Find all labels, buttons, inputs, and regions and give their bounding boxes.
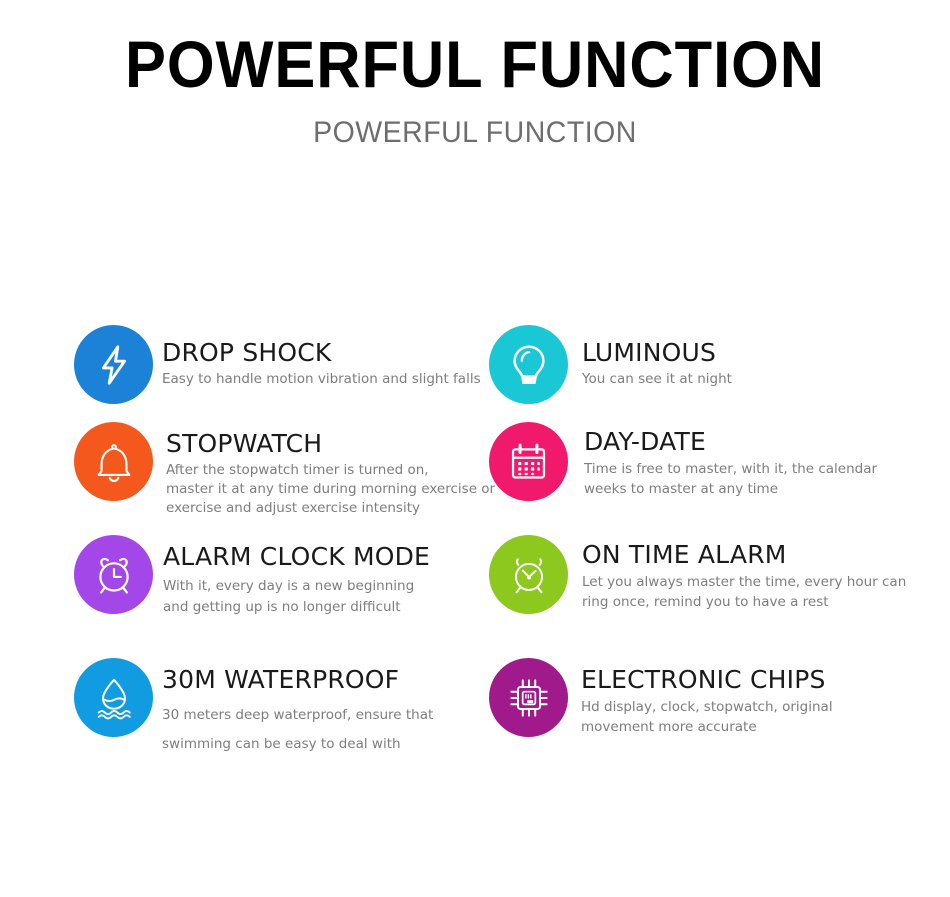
feature-text-day-date: DAY-DATE Time is free to master, with it… (568, 422, 929, 499)
feature-description: Let you always master the time, every ho… (582, 570, 929, 612)
feature-title: DAY-DATE (584, 427, 929, 457)
feature-text-stopwatch: STOPWATCH After the stopwatch timer is t… (153, 422, 495, 518)
feature-text-waterproof: 30M WATERPROOF 30 meters deep waterproof… (153, 658, 494, 759)
feature-title: LUMINOUS (582, 338, 919, 368)
powerful-function-page: POWERFUL FUNCTION POWERFUL FUNCTION DROP… (0, 0, 950, 897)
feature-title: STOPWATCH (166, 429, 495, 459)
feature-grid: DROP SHOCK Easy to handle motion vibrati… (0, 310, 950, 790)
lightning-bolt-icon (74, 325, 153, 404)
feature-description: You can see it at night (582, 368, 919, 388)
desc-line: and getting up is no longer difficult (163, 597, 499, 618)
page-header: POWERFUL FUNCTION POWERFUL FUNCTION (0, 0, 950, 150)
desc-line: exercise and adjust exercise intensity (166, 499, 495, 518)
desc-line: With it, every day is a new beginning (163, 576, 499, 597)
desc-line: swimming can be easy to deal with (162, 730, 494, 759)
feature-description: 30 meters deep waterproof, ensure that s… (162, 695, 494, 759)
feature-description: With it, every day is a new beginning an… (163, 572, 499, 618)
feature-item-waterproof[interactable]: 30M WATERPROOF 30 meters deep waterproof… (74, 658, 494, 759)
desc-line: Let you always master the time, every ho… (582, 572, 929, 592)
feature-item-day-date[interactable]: DAY-DATE Time is free to master, with it… (489, 422, 929, 501)
feature-item-stopwatch[interactable]: STOPWATCH After the stopwatch timer is t… (74, 422, 494, 518)
feature-text-electronic-chips: ELECTRONIC CHIPS Hd display, clock, stop… (568, 658, 929, 737)
calendar-icon (489, 422, 568, 501)
desc-line: Easy to handle motion vibration and slig… (162, 370, 494, 388)
feature-item-on-time-alarm[interactable]: ON TIME ALARM Let you always master the … (489, 535, 929, 614)
feature-description: After the stopwatch timer is turned on, … (166, 459, 495, 518)
desc-line: weeks to master at any time (584, 479, 929, 499)
desc-line: You can see it at night (582, 370, 919, 388)
desc-line: ring once, remind you to have a rest (582, 592, 929, 612)
alarm-clock-hands-icon (489, 535, 568, 614)
cpu-chip-icon (489, 658, 568, 737)
desc-line: After the stopwatch timer is turned on, (166, 461, 495, 480)
feature-text-luminous: LUMINOUS You can see it at night (568, 325, 919, 388)
page-subtitle: POWERFUL FUNCTION (24, 102, 927, 150)
desc-line: 30 meters deep waterproof, ensure that (162, 701, 494, 730)
bell-icon (74, 422, 153, 501)
desc-line: Time is free to master, with it, the cal… (584, 459, 929, 479)
feature-title: ALARM CLOCK MODE (163, 542, 499, 572)
feature-title: DROP SHOCK (162, 338, 494, 368)
desc-line: movement more accurate (581, 717, 929, 737)
alarm-clock-icon (74, 535, 153, 614)
feature-text-alarm-clock-mode: ALARM CLOCK MODE With it, every day is a… (153, 535, 499, 618)
feature-item-alarm-clock-mode[interactable]: ALARM CLOCK MODE With it, every day is a… (74, 535, 499, 618)
feature-description: Time is free to master, with it, the cal… (584, 457, 929, 499)
feature-description: Hd display, clock, stopwatch, original m… (581, 695, 929, 737)
feature-description: Easy to handle motion vibration and slig… (162, 368, 494, 388)
feature-item-luminous[interactable]: LUMINOUS You can see it at night (489, 325, 919, 404)
feature-text-on-time-alarm: ON TIME ALARM Let you always master the … (568, 535, 929, 612)
feature-text-drop-shock: DROP SHOCK Easy to handle motion vibrati… (153, 325, 494, 388)
feature-title: 30M WATERPROOF (162, 665, 494, 695)
page-title: POWERFUL FUNCTION (33, 0, 917, 102)
feature-title: ON TIME ALARM (582, 540, 929, 570)
water-drop-waves-icon (74, 658, 153, 737)
lightbulb-icon (489, 325, 568, 404)
feature-title: ELECTRONIC CHIPS (581, 665, 929, 695)
feature-item-drop-shock[interactable]: DROP SHOCK Easy to handle motion vibrati… (74, 325, 494, 404)
desc-line: Hd display, clock, stopwatch, original (581, 697, 929, 717)
feature-item-electronic-chips[interactable]: ELECTRONIC CHIPS Hd display, clock, stop… (489, 658, 929, 737)
desc-line: master it at any time during morning exe… (166, 480, 495, 499)
